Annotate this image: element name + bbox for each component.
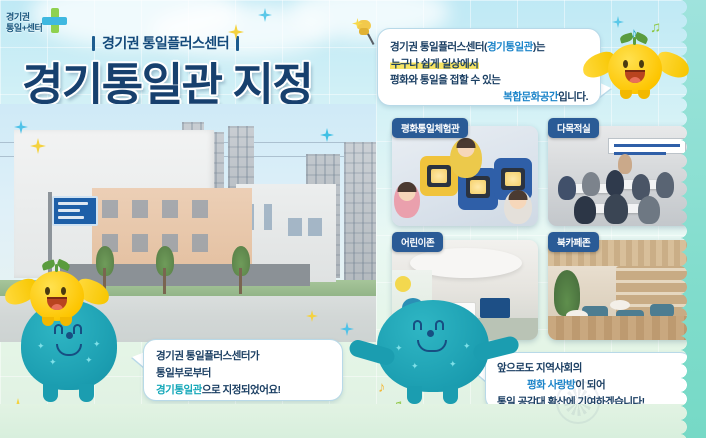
speech-bubble-intro: 경기권 통일플러스센터(경기통일관)는 누구나 쉽게 일상에서 평화와 통일을 … (377, 28, 601, 106)
bottom-band (0, 404, 706, 438)
watermark-overlay (556, 380, 600, 424)
logo-line-1: 경기권 (6, 12, 42, 23)
poster-canvas: 경기권 통일+센터 경기권 통일플러스센터 경기통일관 지정 (0, 0, 706, 438)
sparkle-icon (612, 16, 624, 28)
photo-label-experience-hall: 평화통일체험관 (392, 118, 468, 138)
bubble-designation-line-3: 경기통일관으로 지정되었어요! (156, 382, 330, 399)
bubble-pledge-line-1: 앞으로도 지역사회의 (497, 360, 681, 377)
photo-card-book-cafe-zone[interactable] (548, 240, 694, 340)
yellow-mascot-top-right (608, 38, 664, 102)
bubble-intro-line-3: 평화와 통일을 접할 수 있는 (390, 72, 588, 89)
photo-card-experience-hall[interactable] (392, 126, 538, 226)
bubble-designation-line-1: 경기권 통일플러스센터가 (156, 348, 330, 365)
photo-label-multipurpose-room: 다목적실 (548, 118, 599, 138)
brand-logo: 경기권 통일+센터 (6, 5, 78, 41)
teal-mascot-center: ✦ ✦ ✦ ✦ (377, 300, 489, 392)
logo-text: 경기권 통일+센터 (6, 12, 42, 34)
bubble-intro-line-4: 복합문화공간입니다. (390, 89, 588, 106)
bubble-intro-line-2: 누구나 쉽게 일상에서 (390, 56, 588, 73)
music-note-icon: ♫ (650, 20, 661, 35)
logo-line-2: 통일+센터 (6, 23, 42, 34)
speech-bubble-designation: 경기권 통일플러스센터가 통일부로부터 경기통일관으로 지정되었어요! (143, 339, 343, 401)
photo-card-multipurpose-room[interactable] (548, 126, 694, 226)
sparkle-icon (258, 8, 272, 22)
bubble-intro-line-1: 경기권 통일플러스센터(경기통일관)는 (390, 39, 588, 56)
bubble-designation-line-2: 통일부로부터 (156, 365, 330, 382)
photo-label-book-cafe-zone: 북카페존 (548, 232, 599, 252)
road-sign (52, 196, 98, 226)
plus-icon (42, 8, 68, 34)
yellow-mascot-left (30, 265, 84, 327)
photo-label-children-zone: 어린이존 (392, 232, 443, 252)
